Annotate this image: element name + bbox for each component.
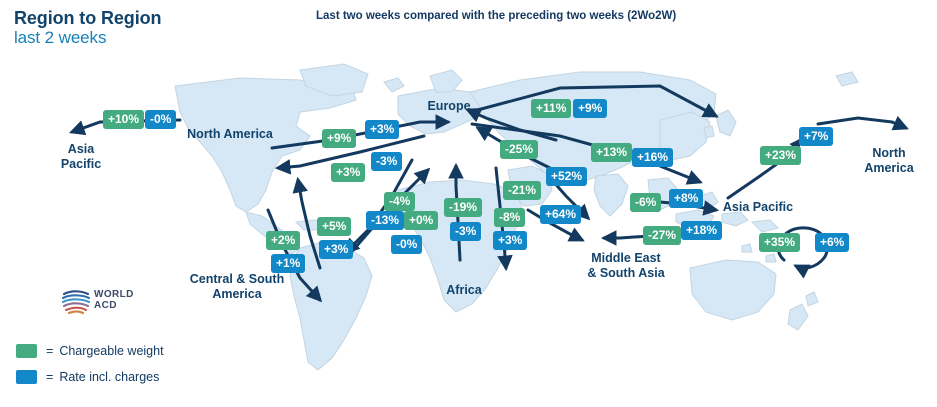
- legend-equals-2: =: [46, 370, 53, 384]
- logo-text: WORLD ACD: [94, 290, 134, 311]
- legend-item-chargeable-weight: = Chargeable weight: [16, 338, 164, 364]
- badge-eu-to-na-rate: -3%: [371, 152, 402, 171]
- badge-mesa-to-ap-cw: -6%: [630, 193, 661, 212]
- legend-label-chargeable-weight: Chargeable weight: [59, 344, 163, 358]
- badge-ap-to-na-cw: +23%: [760, 146, 801, 165]
- region-label-asia-pacific-left: Asia Pacific: [40, 142, 122, 172]
- badge-csa-to-na-rate: +3%: [319, 240, 353, 259]
- badge-eu-to-csa-cw: -4%: [384, 192, 415, 211]
- region-label-middle-east-south-asia: Middle East & South Asia: [570, 251, 682, 281]
- badge-na-to-csa-rate: +1%: [271, 254, 305, 273]
- legend-item-rate-incl-charges: = Rate incl. charges: [16, 364, 164, 390]
- badge-na-to-eu-rate: +3%: [365, 120, 399, 139]
- badge-ap-to-mesa-rate: +18%: [681, 221, 722, 240]
- region-label-central-south-america: Central & South America: [176, 272, 298, 302]
- badge-eu-to-af-rate: +3%: [493, 231, 527, 250]
- worldacd-logo: WORLD ACD: [60, 288, 152, 318]
- badge-na-to-eu-cw: +9%: [322, 129, 356, 148]
- region-label-north-america-left: North America: [178, 127, 282, 142]
- legend-swatch-blue: [16, 370, 37, 384]
- badge-eu-to-af-cw: -8%: [494, 208, 525, 227]
- region-to-region-infographic: Region to Region last 2 weeks Last two w…: [0, 0, 937, 407]
- badge-mesa-to-ap-rate: +8%: [669, 189, 703, 208]
- badge-mesa-inbound-rate: +52%: [546, 167, 587, 186]
- badge-ap-to-mesa-cw: -27%: [643, 226, 681, 245]
- badge-csa-to-eu-cw: +0%: [404, 211, 438, 230]
- badge-eu-to-na-cw: +3%: [331, 163, 365, 182]
- badge-mesa-to-eu-cw: -25%: [500, 140, 538, 159]
- region-label-europe: Europe: [420, 99, 478, 114]
- region-label-asia-pacific-right: Asia Pacific: [714, 200, 802, 215]
- badge-af-to-eu-rate: -3%: [450, 222, 481, 241]
- badge-eu-to-mesa-rate: +16%: [632, 148, 673, 167]
- legend: = Chargeable weight = Rate incl. charges: [16, 338, 164, 390]
- logo-line-acd: ACD: [94, 301, 134, 312]
- badge-na-to-csa-cw: +2%: [266, 231, 300, 250]
- badge-na-to-ap-cw: +10%: [103, 110, 144, 129]
- badge-af-to-mesa-rate: +64%: [540, 205, 581, 224]
- badge-na-to-ap-rate: -0%: [145, 110, 176, 129]
- region-label-africa: Africa: [436, 283, 492, 298]
- badge-eu-to-ap-cw: +11%: [531, 99, 571, 118]
- badge-within-ap-rate: +6%: [815, 233, 849, 252]
- badge-mesa-to-eu-cw2: -21%: [503, 181, 541, 200]
- globe-icon: [60, 288, 92, 316]
- badge-ap-to-na-rate: +7%: [799, 127, 833, 146]
- badge-csa-to-na-cw: +5%: [317, 217, 351, 236]
- legend-equals-1: =: [46, 344, 53, 358]
- badge-eu-to-ap-rate: +9%: [573, 99, 607, 118]
- logo-line-world: WORLD: [94, 290, 134, 301]
- legend-label-rate-incl-charges: Rate incl. charges: [59, 370, 159, 384]
- badge-eu-to-csa-rate: -13%: [366, 211, 404, 230]
- badge-within-ap-cw: +35%: [759, 233, 800, 252]
- badge-af-to-eu-cw: -19%: [444, 198, 482, 217]
- badge-eu-to-mesa-cw: +13%: [591, 143, 632, 162]
- region-label-north-america-right: North America: [856, 146, 922, 176]
- badge-csa-to-eu-rate: -0%: [391, 235, 422, 254]
- legend-swatch-green: [16, 344, 37, 358]
